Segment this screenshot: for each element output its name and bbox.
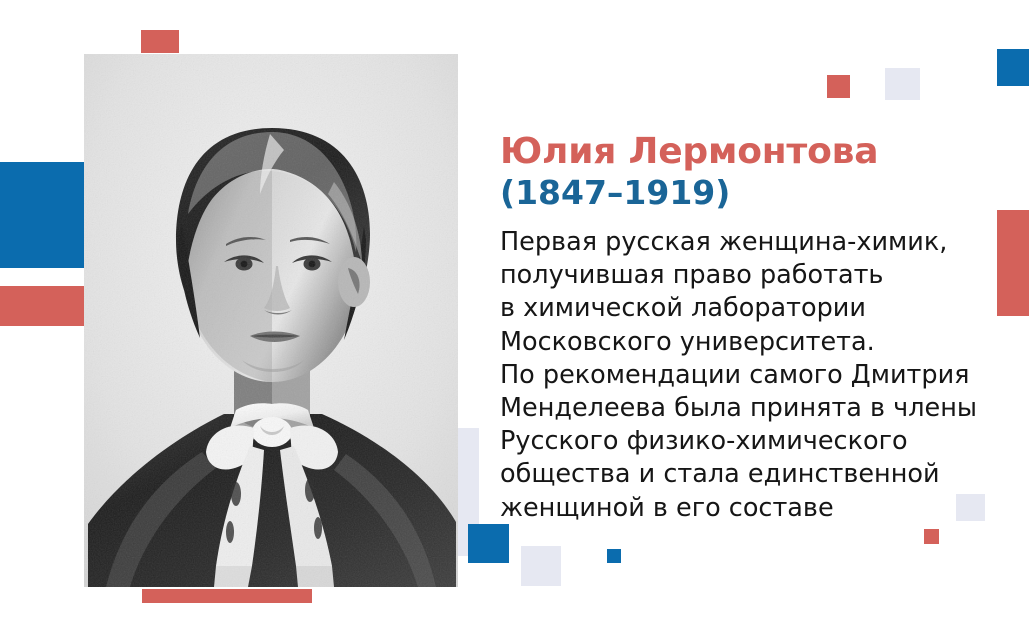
bio-line: Первая русская женщина-химик, — [500, 226, 1000, 259]
deco-blue-left-large — [0, 162, 85, 268]
deco-blue-bottom-left — [468, 524, 509, 563]
deco-red-left — [0, 286, 85, 326]
bio-line: получившая право работать — [500, 259, 1000, 292]
person-dates: (1847–1919) — [500, 174, 1000, 212]
bio-line: По рекомендации самого Дмитрия — [500, 359, 1000, 392]
deco-red-small-top-right — [827, 75, 850, 98]
portrait-photo — [84, 54, 458, 587]
deco-red-right-edge — [997, 210, 1029, 316]
deco-blue-small-bottom — [607, 549, 621, 563]
deco-pale-bottom-left — [521, 546, 561, 586]
deco-red-top-left — [141, 30, 179, 53]
slide-canvas: Юлия Лермонтова (1847–1919) Первая русск… — [0, 0, 1029, 627]
bio-line: Русского физико-химического — [500, 425, 1000, 458]
deco-blue-top-right-edge — [997, 49, 1029, 86]
bio-line: Московского университета. — [500, 326, 1000, 359]
bio-line: Менделеева была принята в члены — [500, 392, 1000, 425]
deco-red-bar-under-photo — [142, 589, 312, 603]
bio-line: женщиной в его составе — [500, 492, 1000, 525]
deco-pale-top-right — [885, 68, 920, 100]
bio-line: общества и стала единственной — [500, 458, 1000, 491]
portrait-photo-graphic — [84, 54, 458, 587]
text-column: Юлия Лермонтова (1847–1919) Первая русск… — [500, 132, 1000, 525]
person-name: Юлия Лермонтова — [500, 132, 1000, 172]
bio-line: в химической лаборатории — [500, 292, 1000, 325]
deco-red-small-bottom-right — [924, 529, 939, 544]
person-biography: Первая русская женщина-химик,получившая … — [500, 226, 1000, 525]
